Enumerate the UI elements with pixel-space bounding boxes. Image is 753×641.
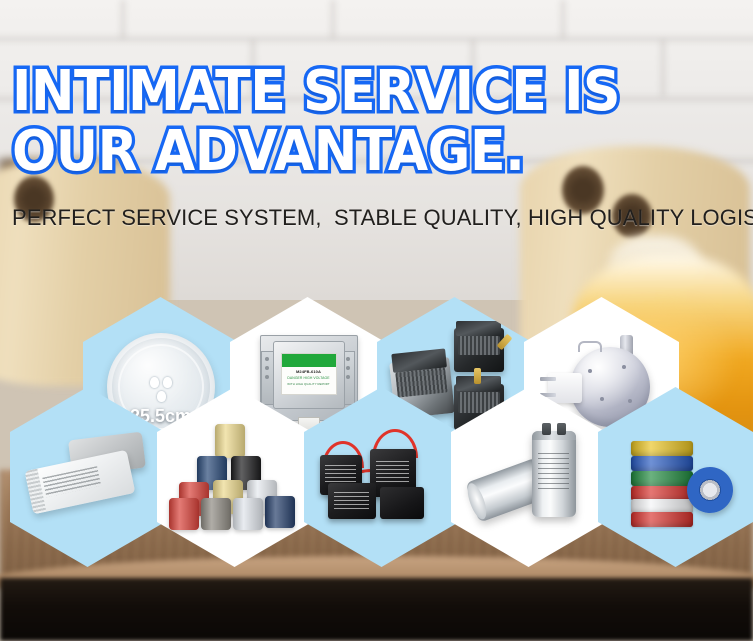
pvc-tape-stack-icon	[617, 425, 735, 529]
product-cbb61-fan-capacitors	[318, 413, 446, 541]
product-tape-roll-pyramid	[171, 413, 299, 541]
magnetron-note-text: WITH HIGH QUALITY REPORT	[287, 382, 329, 386]
banner-subtitle: PERFECT SERVICE SYSTEM, STABLE QUALITY, …	[12, 205, 752, 231]
hexagon-product-grid: 25.5cm M24FB-610A DANGER HIGH VOLTAGE WI…	[0, 282, 753, 612]
magnetron-model-text: M24FB-610A	[296, 369, 321, 374]
product-mica-plate-package	[24, 413, 152, 541]
banner-headline: INTIMATE SERVICE IS OUR ADVANTAGE.	[12, 62, 700, 182]
tape-roll-pyramid-icon	[171, 422, 299, 532]
banner-stage: INTIMATE SERVICE IS OUR ADVANTAGE. PERFE…	[0, 0, 753, 641]
magnetron-label: M24FB-610A DANGER HIGH VOLTAGE WITH HIGH…	[281, 353, 337, 395]
mica-plate-icon	[26, 432, 150, 522]
product-pvc-electrical-tape	[612, 413, 740, 541]
product-cbb65-aluminum-capacitors	[465, 413, 593, 541]
cbb65-capacitor-icon	[466, 423, 592, 531]
cbb61-capacitor-icon	[318, 425, 446, 529]
magnetron-warning-text: DANGER HIGH VOLTAGE	[287, 376, 329, 380]
